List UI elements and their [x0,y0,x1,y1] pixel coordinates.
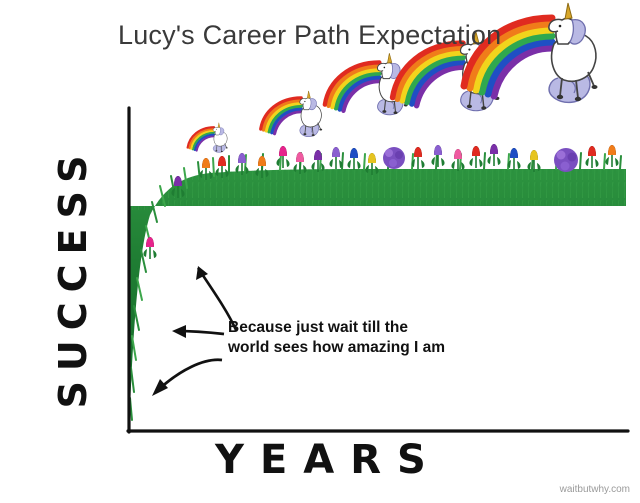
chart-canvas: Lucy's Career Path Expectation SUCCESS Y… [0,0,640,503]
success-curve-grass [129,150,629,432]
y-axis-label: SUCCESS [51,132,95,422]
annotation-arrows [152,266,236,396]
unicorn-5 [464,3,598,102]
annotation-text: Because just wait till the world sees ho… [228,318,490,358]
unicorn-1 [188,123,228,153]
page-title: Lucy's Career Path Expectation [118,20,501,51]
annotation-line-1: Because just wait till the [228,318,490,338]
chart-svg [0,0,640,503]
watermark: waitbutwhy.com [560,484,630,495]
annotation-line-2: world sees how amazing I am [228,338,490,358]
unicorn-2 [261,91,322,137]
x-axis-label: YEARS [215,437,442,483]
